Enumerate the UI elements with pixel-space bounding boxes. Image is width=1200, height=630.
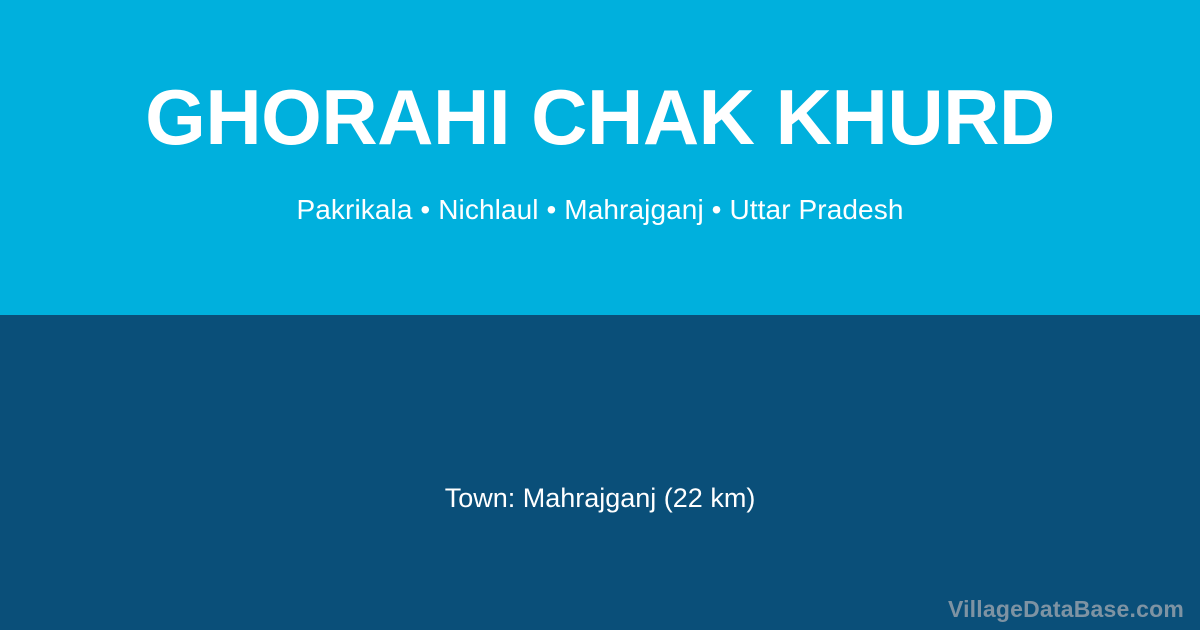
details-band: Town: Mahrajganj (22 km) <box>0 315 1200 630</box>
page-title: GHORAHI CHAK KHURD <box>40 78 1160 156</box>
nearest-town-text: Town: Mahrajganj (22 km) <box>0 485 1200 512</box>
site-watermark: VillageDataBase.com <box>948 598 1184 621</box>
header-content: GHORAHI CHAK KHURD Pakrikala • Nichlaul … <box>0 0 1200 315</box>
header-band: GHORAHI CHAK KHURD Pakrikala • Nichlaul … <box>0 0 1200 315</box>
village-info-card: GHORAHI CHAK KHURD Pakrikala • Nichlaul … <box>0 0 1200 630</box>
breadcrumb: Pakrikala • Nichlaul • Mahrajganj • Utta… <box>40 196 1160 224</box>
